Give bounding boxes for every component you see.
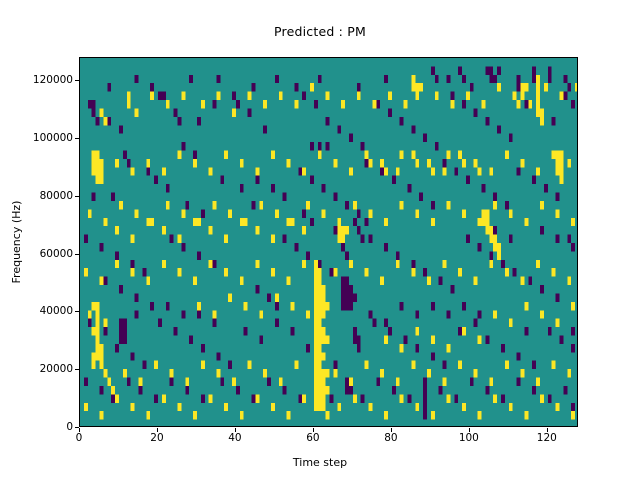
heatmap-image (80, 58, 578, 427)
y-tick-label: 100000 (0, 132, 73, 144)
figure-canvas: Predicted : PM Time step Frequency (Hz) … (0, 0, 640, 480)
y-tick-label: 60000 (0, 248, 73, 260)
y-tick-label: 0 (0, 421, 73, 433)
x-tick-mark (391, 428, 392, 432)
x-tick-label: 20 (150, 432, 163, 444)
y-tick-label: 20000 (0, 363, 73, 375)
x-tick-label: 60 (306, 432, 319, 444)
y-tick-mark (75, 254, 79, 255)
x-tick-label: 80 (384, 432, 397, 444)
y-tick-mark (75, 138, 79, 139)
y-tick-label: 80000 (0, 190, 73, 202)
x-tick-mark (157, 428, 158, 432)
x-tick-label: 0 (76, 432, 83, 444)
x-tick-mark (235, 428, 236, 432)
x-tick-label: 40 (228, 432, 241, 444)
y-tick-mark (75, 369, 79, 370)
chart-title: Predicted : PM (0, 24, 640, 39)
x-tick-mark (79, 428, 80, 432)
x-tick-label: 120 (537, 432, 557, 444)
x-tick-mark (469, 428, 470, 432)
y-tick-label: 120000 (0, 74, 73, 86)
x-tick-mark (313, 428, 314, 432)
x-axis-label: Time step (0, 456, 640, 469)
y-tick-label: 40000 (0, 305, 73, 317)
x-tick-label: 100 (459, 432, 479, 444)
y-tick-mark (75, 196, 79, 197)
y-tick-mark (75, 80, 79, 81)
heatmap-plot-area[interactable] (79, 57, 578, 427)
y-tick-mark (75, 311, 79, 312)
x-tick-mark (547, 428, 548, 432)
y-tick-mark (75, 427, 79, 428)
